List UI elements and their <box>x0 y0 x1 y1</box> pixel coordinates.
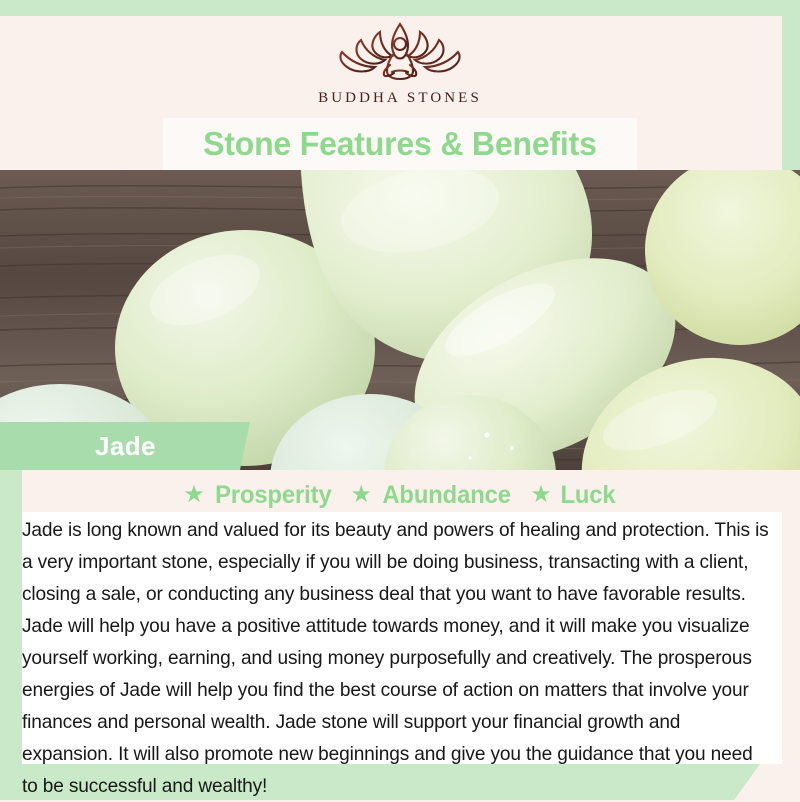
description-card: Jade is long known and valued for its be… <box>22 512 782 764</box>
benefits-row: ★ Prosperity ★ Abundance ★ Luck <box>0 478 800 512</box>
benefit-label: Luck <box>560 481 615 510</box>
brand-wordmark: BUDDHA STONES <box>318 90 482 107</box>
benefit-item-abundance: ★ Abundance <box>350 481 514 510</box>
star-icon: ★ <box>350 483 372 507</box>
stone-name-bar: Jade <box>0 422 250 470</box>
star-icon: ★ <box>183 483 205 507</box>
brand-logo: BUDDHA STONES <box>0 18 800 107</box>
description-text: Jade is long known and valued for its be… <box>22 514 769 802</box>
stone-name: Jade <box>95 431 156 462</box>
decorative-top-strip <box>0 0 800 16</box>
page-title: Stone Features & Benefits <box>203 125 597 163</box>
benefit-label: Abundance <box>382 481 510 510</box>
benefit-label: Prosperity <box>215 481 332 510</box>
lotus-meditation-icon <box>334 18 466 84</box>
title-panel: Stone Features & Benefits <box>163 118 637 170</box>
benefit-item-luck: ★ Luck <box>530 481 616 510</box>
star-icon: ★ <box>530 483 552 507</box>
benefit-item-prosperity: ★ Prosperity <box>183 481 334 510</box>
